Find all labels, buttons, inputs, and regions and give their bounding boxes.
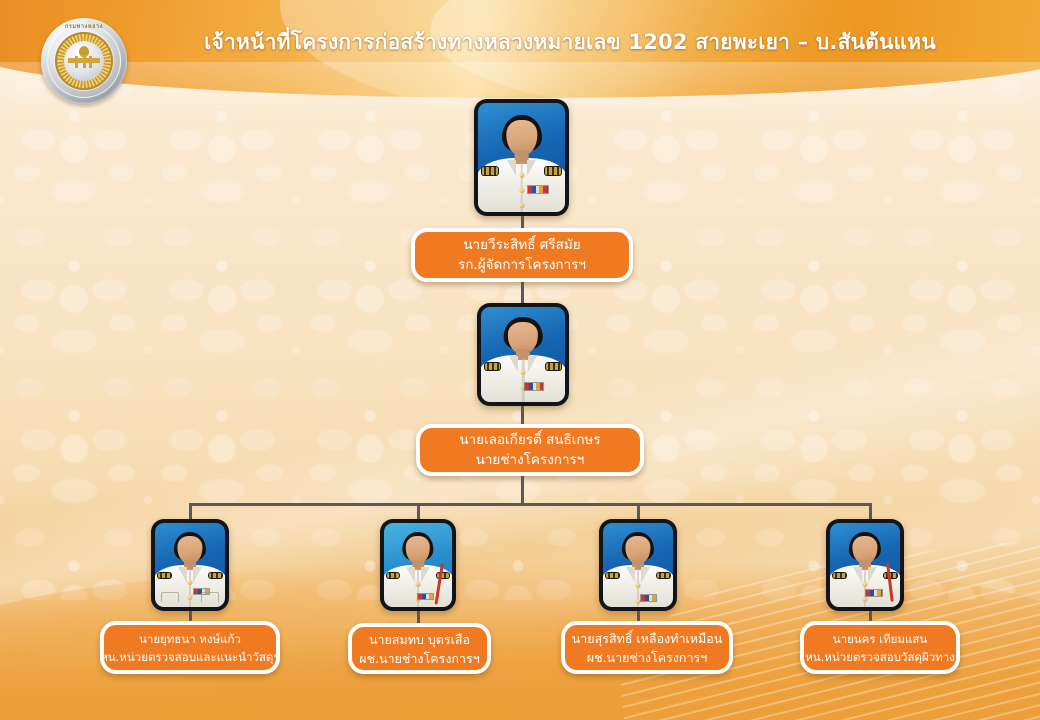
- portrait-ribbon-bar: [866, 590, 881, 596]
- portrait-collar-left: [509, 356, 518, 372]
- portrait-collar-right: [193, 567, 202, 583]
- portrait-collar-right: [528, 356, 537, 372]
- portrait-epaulette-left: [605, 572, 620, 580]
- department-of-highways-logo-icon: กรมทางหลวง: [41, 18, 127, 104]
- person-name: นายสมทบ บุตรเสือ: [369, 630, 470, 649]
- portrait-epaulette-left: [386, 572, 400, 580]
- person-name: นายสุรสิทธิ์ เหลืองทำเหมือน: [572, 629, 723, 648]
- logo-caption: กรมทางหลวง: [41, 23, 127, 53]
- portrait-collar-right: [868, 567, 877, 583]
- person-name: นายยุทธนา หงษ์แก้ว: [139, 630, 241, 648]
- org-node-level3-2[interactable]: นายสมทบ บุตรเสือ ผช.นายช่างโครงการฯ: [348, 623, 491, 674]
- page-title: เจ้าหน้าที่โครงการก่อสร้างทางหลวงหมายเลข…: [150, 27, 990, 57]
- portrait-button: [188, 580, 193, 585]
- portrait-epaulette-right: [208, 572, 223, 580]
- portrait-placket: [522, 359, 525, 402]
- portrait-epaulette-right: [656, 572, 671, 580]
- person-name: นายเลอเกียรติ์ สนธิเกษร: [459, 430, 600, 450]
- portrait-pocket-right: [201, 592, 219, 602]
- portrait-button: [863, 582, 868, 587]
- photo-level2-project-engineer: [477, 303, 569, 406]
- photo-level1-manager: [474, 99, 569, 216]
- photo-level3-child-4: [826, 519, 904, 611]
- portrait-ribbon-bar: [525, 383, 543, 390]
- portrait-button: [519, 203, 524, 208]
- portrait-button: [863, 597, 868, 602]
- portrait-collar-left: [626, 567, 635, 583]
- org-node-level3-1[interactable]: นายยุทธนา หงษ์แก้ว หน.หน่วยตรวจสอบและแนะ…: [100, 621, 280, 674]
- portrait-epaulette-right: [545, 362, 563, 371]
- person-name: นายนคร เทียมแสน: [833, 630, 928, 648]
- portrait-image: [603, 523, 673, 607]
- org-node-level3-3[interactable]: นายสุรสิทธิ์ เหลืองทำเหมือน ผช.นายช่างโค…: [561, 621, 733, 674]
- portrait-image: [481, 307, 565, 402]
- person-name: นายวีระสิทธิ์ ศรีสมัย: [463, 235, 580, 255]
- person-role: ผช.นายช่างโครงการฯ: [359, 649, 480, 668]
- portrait-epaulette-left: [481, 166, 499, 176]
- portrait-ribbon-bar: [641, 595, 656, 601]
- portrait-image: [155, 523, 225, 607]
- portrait-collar-left: [178, 567, 187, 583]
- person-role: รก.ผู้จัดการโครงการฯ: [458, 255, 586, 275]
- portrait-collar-left: [406, 567, 415, 583]
- org-node-level1[interactable]: นายวีระสิทธิ์ ศรีสมัย รก.ผู้จัดการโครงกา…: [411, 228, 633, 282]
- portrait-button: [519, 188, 524, 193]
- portrait-image: [384, 523, 452, 607]
- org-chart-page: กรมทางหลวง เจ้าหน้าที่โครงการก่อสร้างทาง…: [0, 0, 1040, 720]
- person-role: หน.หน่วยตรวจสอบและแนะนำวัสดุฯ: [100, 648, 280, 666]
- portrait-epaulette-right: [544, 166, 562, 176]
- connector-horizontal-bus: [189, 503, 872, 506]
- portrait-ribbon-bar: [418, 594, 433, 600]
- portrait-image: [478, 103, 565, 212]
- person-role: ผช.นายช่างโครงการฯ: [587, 648, 708, 667]
- portrait-pocket-left: [161, 592, 179, 602]
- portrait-collar-left: [853, 567, 862, 583]
- connector-box1-to-photo2: [521, 281, 524, 304]
- portrait-button: [521, 370, 526, 375]
- connector-box2-to-bus: [521, 474, 524, 505]
- portrait-epaulette-left: [832, 572, 847, 580]
- portrait-image: [830, 523, 900, 607]
- portrait-collar-right: [421, 567, 430, 583]
- photo-level3-child-2: [380, 519, 456, 611]
- photo-level3-child-3: [599, 519, 677, 611]
- portrait-button: [636, 599, 641, 604]
- portrait-button: [416, 582, 421, 587]
- person-role: หน.หน่วยตรวจสอบวัสดุผิวทาง: [805, 648, 955, 666]
- portrait-button: [636, 583, 641, 588]
- portrait-collar-right: [527, 160, 536, 176]
- page-header: กรมทางหลวง เจ้าหน้าที่โครงการก่อสร้างทาง…: [0, 0, 1040, 108]
- portrait-epaulette-left: [484, 362, 502, 371]
- photo-level3-child-1: [151, 519, 229, 611]
- portrait-epaulette-left: [157, 572, 172, 580]
- portrait-placket: [189, 569, 191, 607]
- org-node-level2[interactable]: นายเลอเกียรติ์ สนธิเกษร นายช่างโครงการฯ: [416, 424, 644, 476]
- portrait-collar-left: [507, 160, 516, 176]
- portrait-button: [188, 595, 193, 600]
- person-role: นายช่างโครงการฯ: [476, 450, 585, 470]
- org-node-level3-4[interactable]: นายนคร เทียมแสน หน.หน่วยตรวจสอบวัสดุผิวท…: [800, 621, 960, 674]
- portrait-ribbon-bar: [528, 186, 547, 194]
- portrait-button: [519, 173, 524, 178]
- portrait-collar-right: [641, 567, 650, 583]
